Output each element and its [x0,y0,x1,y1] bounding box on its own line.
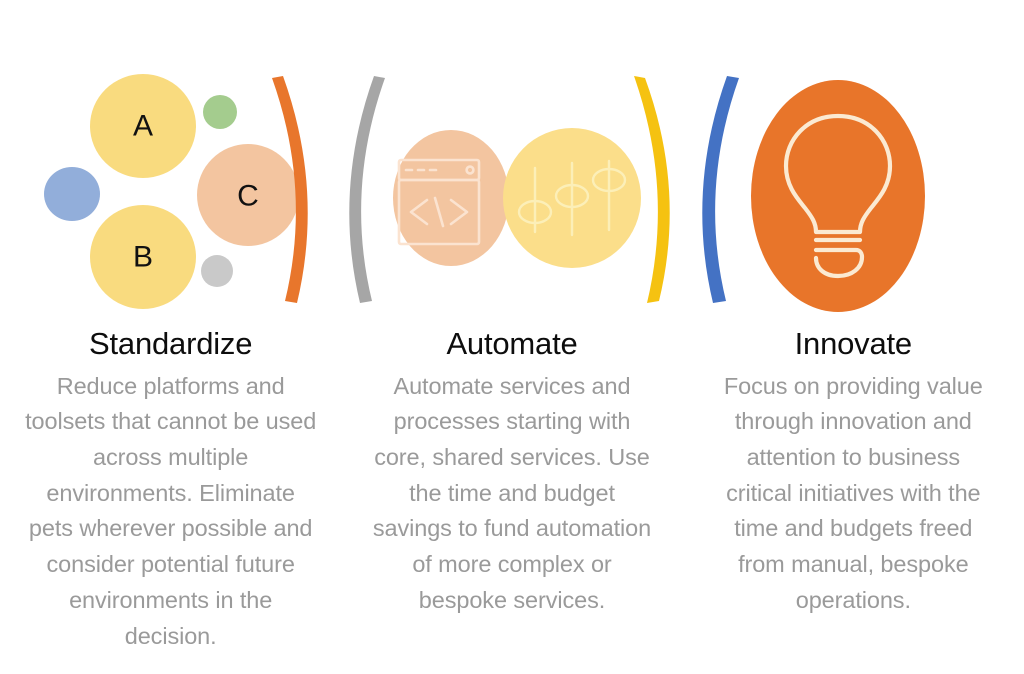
green-dot-icon [203,95,237,129]
circle-c-label: C [237,180,259,213]
automate-body: Automate services and processes starting… [359,369,664,619]
standardize-body: Reduce platforms and toolsets that canno… [18,369,323,655]
innovate-heading: Innovate [701,326,1006,363]
circle-a-label: A [133,110,153,143]
panel-standardize: Standardize Reduce platforms and toolset… [0,326,341,654]
infographic-root: A B C [0,0,1024,674]
arc-gray-opening [349,76,385,303]
arc-blue-opening [702,76,739,303]
circle-b-label: B [133,241,153,274]
panel-automate: Automate Automate services and processes… [341,326,682,619]
graphics-band: A B C [0,0,1024,320]
panel-1-graphic: A B C [44,74,308,309]
standardize-heading: Standardize [18,326,323,363]
blue-dot-icon [44,167,100,221]
code-icon-circle [393,130,509,266]
sliders-icon [519,161,625,235]
text-columns: Standardize Reduce platforms and toolset… [0,326,1024,654]
gray-dot-icon [201,255,233,287]
panel-innovate: Innovate Focus on providing value throug… [683,326,1024,619]
automate-heading: Automate [359,326,664,363]
panel-3-graphic [702,76,925,312]
innovate-body: Focus on providing value through innovat… [701,369,1006,619]
panel-2-graphic [349,76,669,303]
